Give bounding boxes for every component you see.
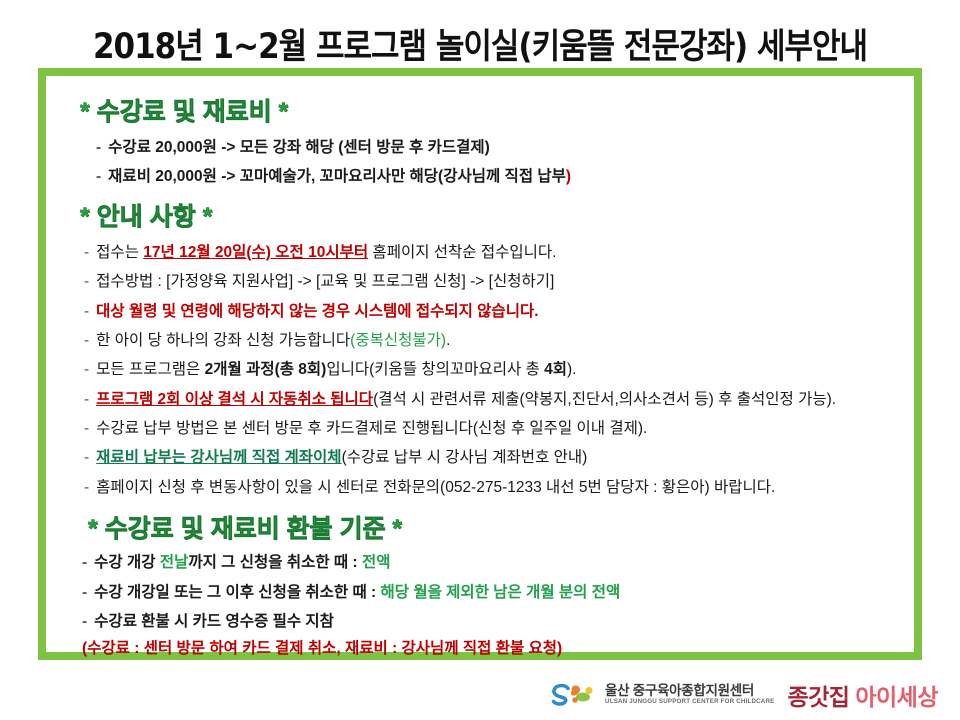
refund-1-highlight-1: 전날 [160, 554, 189, 571]
bullet-dash: - [96, 168, 101, 185]
list-item: -홈페이지 신청 후 변동사항이 있을 시 센터로 전화문의(052-275-1… [84, 478, 898, 497]
notice-5-post: ). [567, 361, 576, 378]
footer-branding: 울산 중구육아종합지원센터 ULSAN JUNGGU SUPPORT CENTE… [550, 678, 938, 712]
bullet-dash: - [82, 554, 87, 571]
bullet-dash: - [96, 139, 101, 156]
notice-2-text: 접수방법 : [가정양육 지원사업] -> [교육 및 프로그램 신청] -> … [96, 273, 554, 290]
center-name-block: 울산 중구육아종합지원센터 ULSAN JUNGGU SUPPORT CENTE… [605, 684, 774, 706]
section-fees: * 수강료 및 재료비 * -수강료 20,000원 -> 모든 강좌 해당 (… [62, 92, 898, 187]
notice-8-post: (수강료 납부 시 강사님 계좌번호 안내) [342, 449, 588, 466]
bullet-dash: - [84, 449, 89, 466]
notice-9-text: 홈페이지 신청 후 변동사항이 있을 시 센터로 전화문의(052-275-12… [96, 479, 775, 496]
section-refund: * 수강료 및 재료비 환불 기준 * -수강 개강 전날까지 그 신청을 취소… [62, 509, 898, 659]
refund-2-highlight: 해당 월을 제외한 남은 개월 분의 전액 [381, 584, 621, 601]
brand-name: 종갓집 아이세상 [787, 678, 938, 712]
brand-name-first: 종갓집 [787, 684, 849, 710]
notice-5-bold-1: 2개월 과정(총 8회) [205, 361, 327, 378]
brand-name-second: 아이세상 [855, 684, 938, 710]
fee-material-text: 재료비 20,000원 -> 꼬마예술가, 꼬마요리사만 해당(강사님께 직접 … [108, 168, 566, 185]
list-item: -모든 프로그램은 2개월 과정(총 8회)입니다(키움뜰 창의꼬마요리사 총 … [84, 360, 898, 379]
notice-7-text: 수강료 납부 방법은 본 센터 방문 후 카드결제로 진행됩니다(신청 후 일주… [96, 420, 647, 437]
section-heading-notice: * 안내 사항 * [80, 197, 898, 233]
refund-3-text: 수강료 환불 시 카드 영수증 필수 지참 [94, 613, 334, 630]
refund-1-pre: 수강 개강 [94, 554, 160, 571]
list-item: -수강 개강일 또는 그 이후 신청을 취소한 때 : 해당 월을 제외한 남은… [82, 583, 898, 602]
notice-6-highlight: 프로그램 2회 이상 결석 시 자동취소 됩니다 [96, 391, 373, 408]
center-logo-icon [550, 680, 596, 710]
notice-4-pre: 한 아이 당 하나의 강좌 신청 가능합니다 [96, 332, 350, 349]
bullet-dash: - [84, 332, 89, 349]
list-item: -수강료 환불 시 카드 영수증 필수 지참 [82, 612, 898, 631]
bullet-dash: - [84, 420, 89, 437]
list-item: -프로그램 2회 이상 결석 시 자동취소 됩니다(결석 시 관련서류 제출(약… [84, 390, 898, 409]
section-notice: * 안내 사항 * -접수는 17년 12월 20일(수) 오전 10시부터 홈… [62, 197, 898, 497]
bullet-dash: - [84, 273, 89, 290]
refund-note: (수강료 : 센터 방문 하여 카드 결제 취소, 재료비 : 강사님께 직접 … [82, 639, 898, 658]
list-item: -접수는 17년 12월 20일(수) 오전 10시부터 홈페이지 선착순 접수… [84, 243, 898, 262]
bullet-dash: - [84, 303, 89, 320]
notice-5-bold-2: 4회 [544, 361, 567, 378]
fee-material-text-accent: ) [566, 168, 571, 185]
notice-8-highlight: 재료비 납부는 강사님께 직접 계좌이체 [96, 449, 341, 466]
list-item: -재료비 20,000원 -> 꼬마예술가, 꼬마요리사만 해당(강사님께 직접… [96, 167, 898, 186]
list-item: -접수방법 : [가정양육 지원사업] -> [교육 및 프로그램 신청] ->… [84, 272, 898, 291]
fee-tuition-text: 수강료 20,000원 -> 모든 강좌 해당 (센터 방문 후 카드결제) [108, 139, 490, 156]
notice-6-post: (결석 시 관련서류 제출(약봉지,진단서,의사소견서 등) 후 출석인정 가능… [373, 391, 836, 408]
list-item: -수강료 20,000원 -> 모든 강좌 해당 (센터 방문 후 카드결제) [96, 138, 898, 157]
bullet-dash: - [84, 361, 89, 378]
section-heading-fees: * 수강료 및 재료비 * [80, 92, 898, 128]
notice-4-post: . [446, 332, 450, 349]
section-heading-refund: * 수강료 및 재료비 환불 기준 * [88, 509, 898, 545]
list-item: -수강 개강 전날까지 그 신청을 취소한 때 : 전액 [82, 553, 898, 572]
bullet-dash: - [84, 244, 89, 261]
refund-1-highlight-2: 전액 [362, 554, 391, 571]
refund-note-text: (수강료 : 센터 방문 하여 카드 결제 취소, 재료비 : 강사님께 직접 … [82, 640, 562, 657]
notice-item-list: -접수는 17년 12월 20일(수) 오전 10시부터 홈페이지 선착순 접수… [62, 243, 898, 497]
bullet-dash: - [84, 391, 89, 408]
content-panel: * 수강료 및 재료비 * -수강료 20,000원 -> 모든 강좌 해당 (… [38, 68, 922, 660]
list-item: -한 아이 당 하나의 강좌 신청 가능합니다(중복신청불가). [84, 331, 898, 350]
notice-5-mid: 입니다(키움뜰 창의꼬마요리사 총 [326, 361, 544, 378]
notice-4-highlight: (중복신청불가) [350, 332, 446, 349]
center-name-korean: 울산 중구육아종합지원센터 [605, 684, 774, 698]
bullet-dash: - [84, 479, 89, 496]
fees-item-list: -수강료 20,000원 -> 모든 강좌 해당 (센터 방문 후 카드결제) … [62, 138, 898, 187]
notice-1-post: 홈페이지 선착순 접수입니다. [368, 244, 556, 261]
list-item: -재료비 납부는 강사님께 직접 계좌이체(수강료 납부 시 강사님 계좌번호 … [84, 448, 898, 467]
notice-1-pre: 접수는 [96, 244, 143, 261]
list-item: -대상 월령 및 연령에 해당하지 않는 경우 시스템에 접수되지 않습니다. [84, 302, 898, 321]
bullet-dash: - [82, 613, 87, 630]
notice-5-pre: 모든 프로그램은 [96, 361, 204, 378]
center-name-english: ULSAN JUNGGU SUPPORT CENTER FOR CHILDCAR… [605, 699, 774, 706]
notice-3-text: 대상 월령 및 연령에 해당하지 않는 경우 시스템에 접수되지 않습니다. [96, 303, 538, 320]
refund-item-list: -수강 개강 전날까지 그 신청을 취소한 때 : 전액 -수강 개강일 또는 … [62, 553, 898, 659]
refund-2-pre: 수강 개강일 또는 그 이후 신청을 취소한 때 : [94, 584, 380, 601]
bullet-dash: - [82, 584, 87, 601]
list-item: -수강료 납부 방법은 본 센터 방문 후 카드결제로 진행됩니다(신청 후 일… [84, 419, 898, 438]
page-title: 2018년 1~2월 프로그램 놀이실(키움뜰 전문강좌) 세부안내 [0, 0, 960, 75]
refund-1-mid: 까지 그 신청을 취소한 때 : [188, 554, 362, 571]
notice-1-highlight: 17년 12월 20일(수) 오전 10시부터 [143, 244, 368, 261]
